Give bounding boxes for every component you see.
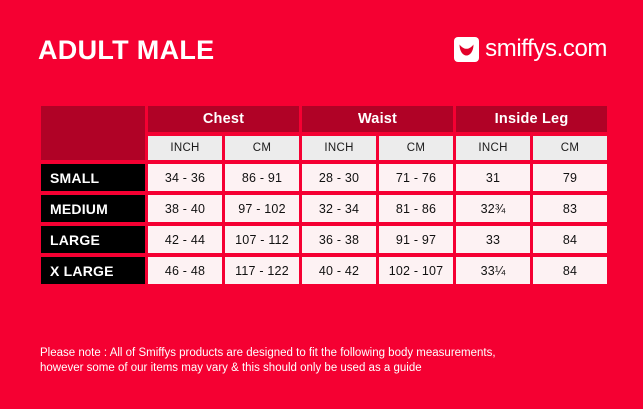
cell-leg-cm: 79 xyxy=(533,164,607,191)
cell-chest-cm: 117 - 122 xyxy=(225,257,299,284)
cell-chest-inch: 38 - 40 xyxy=(148,195,222,222)
page-header: ADULT MALE smiffys.com xyxy=(0,0,643,96)
cell-chest-cm: 86 - 91 xyxy=(225,164,299,191)
cell-leg-cm: 83 xyxy=(533,195,607,222)
unit-header-chest-inch: INCH xyxy=(148,136,222,160)
cell-leg-inch: 32¾ xyxy=(456,195,530,222)
cell-leg-cm: 84 xyxy=(533,257,607,284)
unit-header-chest-cm: CM xyxy=(225,136,299,160)
cell-waist-inch: 32 - 34 xyxy=(302,195,376,222)
unit-header-leg-inch: INCH xyxy=(456,136,530,160)
cell-waist-cm: 91 - 97 xyxy=(379,226,453,253)
smile-check-icon xyxy=(454,37,479,62)
unit-header-leg-cm: CM xyxy=(533,136,607,160)
disclaimer-note: Please note : All of Smiffys products ar… xyxy=(40,346,615,376)
cell-waist-inch: 40 - 42 xyxy=(302,257,376,284)
row-size-label: MEDIUM xyxy=(41,195,145,222)
table-row: X LARGE 46 - 48 117 - 122 40 - 42 102 - … xyxy=(41,257,607,284)
cell-waist-cm: 71 - 76 xyxy=(379,164,453,191)
cell-chest-cm: 97 - 102 xyxy=(225,195,299,222)
row-size-label: LARGE xyxy=(41,226,145,253)
size-chart-page: ADULT MALE smiffys.com Chest xyxy=(0,0,643,409)
cell-leg-inch: 33 xyxy=(456,226,530,253)
table-row: SMALL 34 - 36 86 - 91 28 - 30 71 - 76 31… xyxy=(41,164,607,191)
page-title: ADULT MALE xyxy=(38,37,214,64)
cell-waist-cm: 81 - 86 xyxy=(379,195,453,222)
brand-logo: smiffys.com xyxy=(454,37,607,62)
column-group-waist: Waist xyxy=(302,106,453,132)
column-group-inside-leg: Inside Leg xyxy=(456,106,607,132)
table-corner-cell xyxy=(41,106,145,160)
cell-chest-cm: 107 - 112 xyxy=(225,226,299,253)
cell-waist-cm: 102 - 107 xyxy=(379,257,453,284)
cell-chest-inch: 42 - 44 xyxy=(148,226,222,253)
row-size-label: SMALL xyxy=(41,164,145,191)
row-size-label: X LARGE xyxy=(41,257,145,284)
size-table-container: Chest Waist Inside Leg INCH CM INCH CM I… xyxy=(38,102,606,288)
size-table: Chest Waist Inside Leg INCH CM INCH CM I… xyxy=(38,102,610,288)
disclaimer-line-1: Please note : All of Smiffys products ar… xyxy=(40,346,615,361)
table-group-header-row: Chest Waist Inside Leg xyxy=(41,106,607,132)
cell-chest-inch: 34 - 36 xyxy=(148,164,222,191)
brand-name: smiffys.com xyxy=(485,37,607,61)
cell-waist-inch: 28 - 30 xyxy=(302,164,376,191)
unit-header-waist-cm: CM xyxy=(379,136,453,160)
table-row: LARGE 42 - 44 107 - 112 36 - 38 91 - 97 … xyxy=(41,226,607,253)
cell-waist-inch: 36 - 38 xyxy=(302,226,376,253)
cell-leg-inch: 33¼ xyxy=(456,257,530,284)
unit-header-waist-inch: INCH xyxy=(302,136,376,160)
disclaimer-line-2: however some of our items may vary & thi… xyxy=(40,361,615,376)
cell-leg-cm: 84 xyxy=(533,226,607,253)
table-row: MEDIUM 38 - 40 97 - 102 32 - 34 81 - 86 … xyxy=(41,195,607,222)
cell-chest-inch: 46 - 48 xyxy=(148,257,222,284)
cell-leg-inch: 31 xyxy=(456,164,530,191)
column-group-chest: Chest xyxy=(148,106,299,132)
